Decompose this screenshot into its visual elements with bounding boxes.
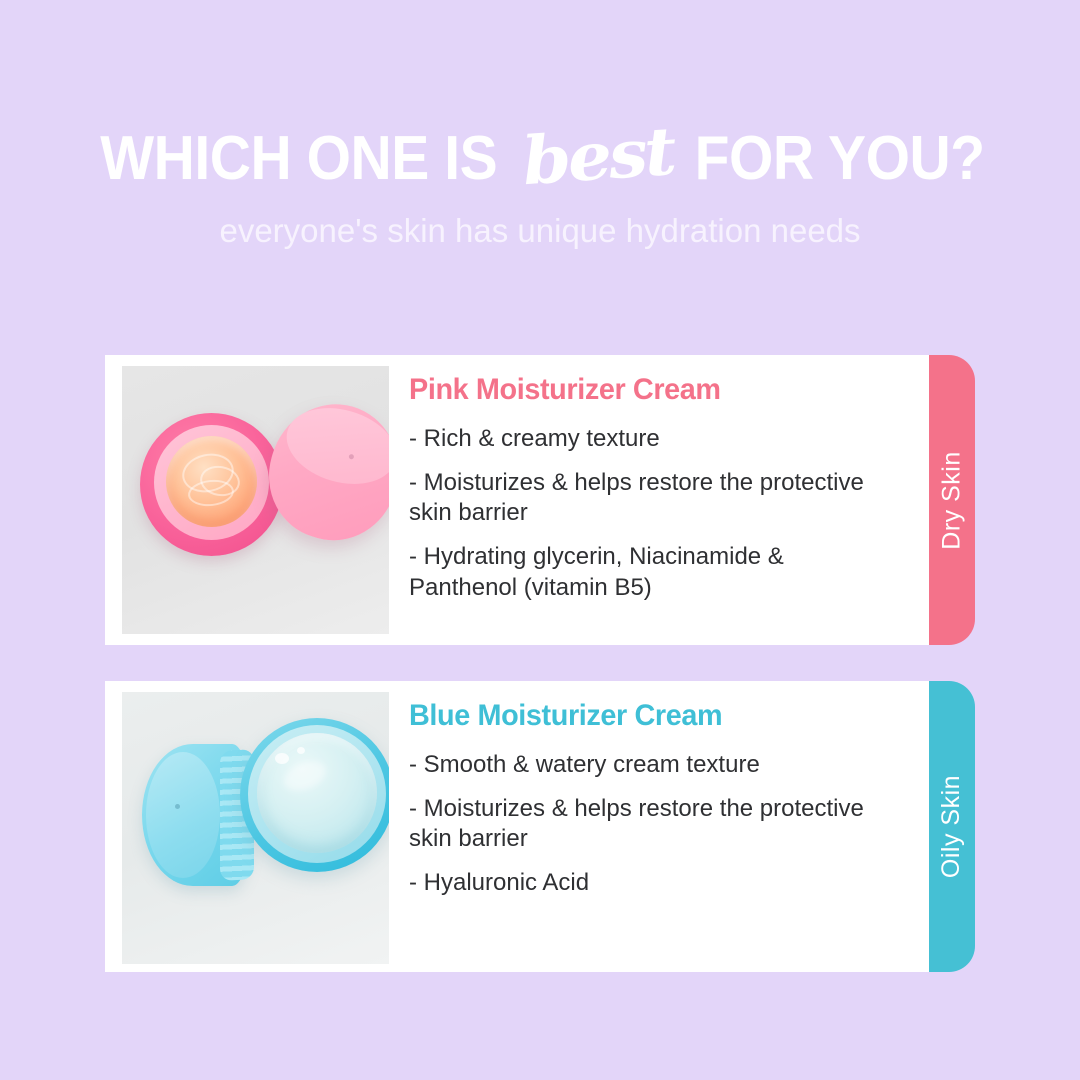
skin-type-tab-oily[interactable]: Oily Skin — [929, 681, 975, 972]
blue-lid-dot-icon — [175, 804, 180, 809]
skin-type-tab-dry[interactable]: Dry Skin — [929, 355, 975, 645]
product-card-blue[interactable]: Blue Moisturizer Cream - Smooth & watery… — [105, 681, 929, 972]
blue-lid-face-icon — [146, 752, 220, 878]
product-card-pink[interactable]: Pink Moisturizer Cream - Rich & creamy t… — [105, 355, 929, 645]
blue-gel-bubble-icon — [297, 747, 305, 754]
skin-type-tab-label: Dry Skin — [938, 451, 967, 549]
headline-part-2: FOR YOU? — [695, 128, 985, 190]
page-headline: WHICH ONE IS best FOR YOU? — [0, 128, 1080, 190]
product-photo-pink — [122, 366, 389, 634]
product-info-blue: Blue Moisturizer Cream - Smooth & watery… — [389, 681, 929, 899]
pink-jar-base-icon — [140, 413, 283, 556]
product-info-pink: Pink Moisturizer Cream - Rich & creamy t… — [389, 355, 929, 604]
pink-jar-rim-icon — [154, 425, 269, 540]
product-title-pink: Pink Moisturizer Cream — [409, 373, 908, 407]
blue-jar-rim-icon — [248, 725, 386, 863]
headline-part-1: WHICH ONE IS — [100, 128, 497, 190]
product-bullet: - Moisturizes & helps restore the protec… — [409, 794, 889, 855]
pink-cream-surface-icon — [166, 436, 257, 527]
product-bullet: - Hydrating glycerin, Niacinamide & Pant… — [409, 542, 889, 603]
page-subheadline: everyone's skin has unique hydration nee… — [0, 212, 1080, 250]
product-bullet: - Smooth & watery cream texture — [409, 750, 889, 781]
product-bullet: - Hyaluronic Acid — [409, 868, 889, 899]
headline-script-word: best — [508, 117, 688, 195]
pink-jar-lid-icon — [254, 389, 389, 555]
product-bullet: - Moisturizes & helps restore the protec… — [409, 468, 889, 529]
blue-gel-surface-icon — [257, 733, 377, 853]
blue-jar-base-icon — [240, 718, 389, 872]
blue-jar-lid-icon — [142, 744, 252, 886]
product-title-blue: Blue Moisturizer Cream — [409, 699, 908, 733]
product-photo-blue — [122, 692, 389, 964]
blue-gel-bubble-icon — [275, 753, 289, 764]
skin-type-tab-label: Oily Skin — [938, 775, 967, 878]
pink-lid-top-icon — [278, 396, 389, 496]
product-bullet: - Rich & creamy texture — [409, 424, 889, 455]
header: WHICH ONE IS best FOR YOU? everyone's sk… — [0, 128, 1080, 250]
